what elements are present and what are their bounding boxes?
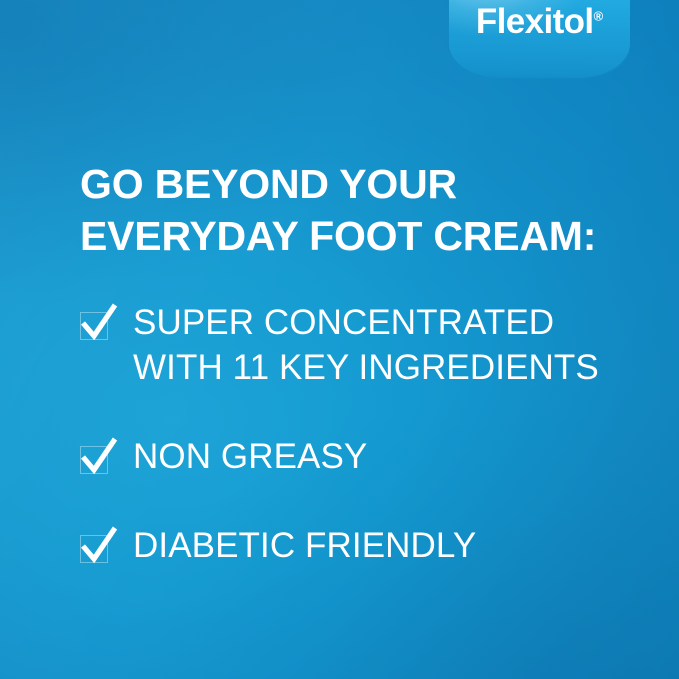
feature-checklist: SUPER CONCENTRATED WITH 11 KEY INGREDIEN… bbox=[80, 300, 660, 568]
product-feature-poster: Flexitol® GO BEYOND YOUR EVERYDAY FOOT C… bbox=[0, 0, 679, 679]
checkmark-icon bbox=[79, 302, 119, 344]
checkmark-icon bbox=[79, 525, 119, 567]
list-item: DIABETIC FRIENDLY bbox=[80, 523, 660, 568]
brand-wordmark: Flexitol® bbox=[449, 4, 630, 39]
list-item-label: NON GREASY bbox=[133, 434, 367, 479]
list-item-label: SUPER CONCENTRATED WITH 11 KEY INGREDIEN… bbox=[133, 300, 599, 390]
checkbox-outline bbox=[80, 446, 108, 474]
page-title: GO BEYOND YOUR EVERYDAY FOOT CREAM: bbox=[80, 158, 640, 262]
list-item: NON GREASY bbox=[80, 434, 660, 479]
registered-trademark-icon: ® bbox=[594, 8, 604, 23]
checkmark-icon bbox=[79, 436, 119, 478]
list-item: SUPER CONCENTRATED WITH 11 KEY INGREDIEN… bbox=[80, 300, 660, 390]
brand-logo-badge: Flexitol® bbox=[449, 0, 630, 78]
headline-line-1: GO BEYOND YOUR bbox=[80, 158, 640, 210]
checkbox-outline bbox=[80, 535, 108, 563]
list-item-label: DIABETIC FRIENDLY bbox=[133, 523, 476, 568]
checkbox-outline bbox=[80, 312, 108, 340]
brand-name-text: Flexitol bbox=[476, 2, 594, 41]
headline-line-2: EVERYDAY FOOT CREAM: bbox=[80, 210, 640, 262]
